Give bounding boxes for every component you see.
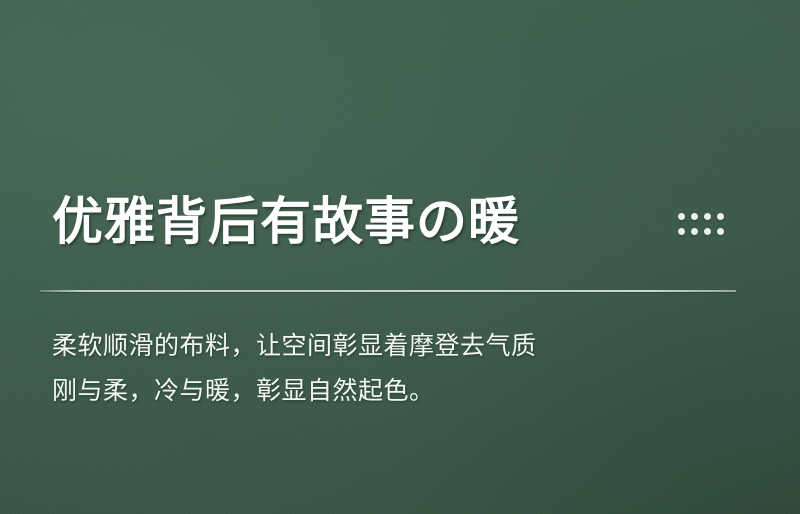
dot-icon: [691, 228, 698, 235]
promo-banner: 优雅背后有故事の暖 柔软顺滑的布料，让空间彰显着摩登去气质 刚与柔，冷与暖，彰显…: [0, 0, 800, 514]
dot-icon: [704, 213, 711, 220]
headline-row: 优雅背后有故事の暖: [52, 192, 742, 252]
horizontal-divider: [40, 290, 736, 292]
banner-content: 优雅背后有故事の暖 柔软顺滑的布料，让空间彰显着摩登去气质 刚与柔，冷与暖，彰显…: [0, 0, 800, 514]
dot-icon: [704, 228, 711, 235]
body-line: 刚与柔，冷与暖，彰显自然起色。: [52, 369, 752, 414]
body-line: 柔软顺滑的布料，让空间彰显着摩登去气质: [52, 324, 752, 369]
dot-icon: [717, 213, 724, 220]
dot-icon: [691, 213, 698, 220]
dot-icon: [678, 228, 685, 235]
headline-text: 优雅背后有故事の暖: [52, 192, 520, 252]
dot-grid-decoration: [678, 213, 724, 235]
body-copy: 柔软顺滑的布料，让空间彰显着摩登去气质 刚与柔，冷与暖，彰显自然起色。: [52, 324, 752, 414]
dot-icon: [717, 228, 724, 235]
dot-icon: [678, 213, 685, 220]
